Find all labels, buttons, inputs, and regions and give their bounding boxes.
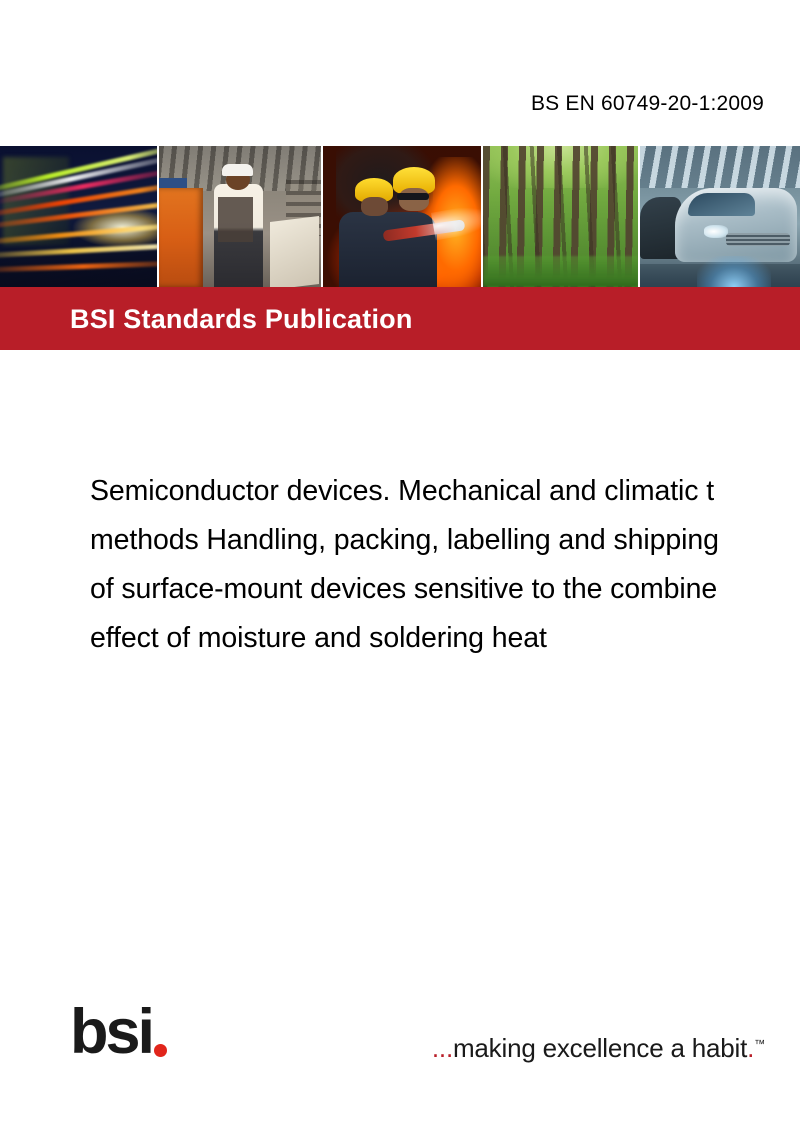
firefighter-face [361, 197, 388, 217]
title-line-1: Semiconductor devices. Mechanical and cl… [90, 467, 800, 516]
photo-light-trails [0, 146, 157, 287]
worker-apron [218, 197, 254, 242]
tagline-text: making excellence a habit [453, 1033, 747, 1063]
firefighter-face [399, 188, 429, 211]
worker-cap [222, 164, 253, 175]
forest-undergrowth [483, 256, 638, 287]
bsi-tagline: ...making excellence a habit.™ [432, 1033, 765, 1064]
standard-number: BS EN 60749-20-1:2009 [531, 92, 764, 116]
orange-crates [159, 188, 203, 287]
car-windshield [688, 193, 755, 217]
firefighter-visor [397, 193, 428, 200]
cardboard-box [270, 216, 319, 287]
factory-ceiling [640, 146, 800, 188]
firefighter-coats [339, 212, 436, 287]
photo-forest [483, 146, 638, 287]
car-headlight [704, 225, 728, 238]
bsi-standards-banner: BSI Standards Publication [0, 287, 800, 350]
photo-car-assembly [640, 146, 800, 287]
car-grille [726, 233, 790, 246]
title-line-4: effect of moisture and soldering heat [90, 614, 800, 663]
trademark-symbol: ™ [754, 1038, 765, 1050]
floor-light-glow [697, 256, 771, 287]
title-line-2: methods Handling, packing, labelling and… [90, 516, 800, 565]
tagline-ellipsis: ... [432, 1033, 453, 1063]
bsi-logo-dot-icon [154, 1044, 167, 1057]
cover-image-strip [0, 146, 800, 287]
page-title: Semiconductor devices. Mechanical and cl… [90, 467, 800, 663]
bsi-logo: bsi [70, 1002, 167, 1060]
photo-warehouse-worker [159, 146, 321, 287]
title-line-3: of surface-mount devices sensitive to th… [90, 565, 800, 614]
document-cover-page: BS EN 60749-20-1:2009 [0, 0, 800, 1132]
banner-title: BSI Standards Publication [70, 304, 413, 335]
bsi-logo-text: bsi [70, 1006, 152, 1060]
light-streak [0, 260, 157, 273]
photo-firefighters [323, 146, 480, 287]
